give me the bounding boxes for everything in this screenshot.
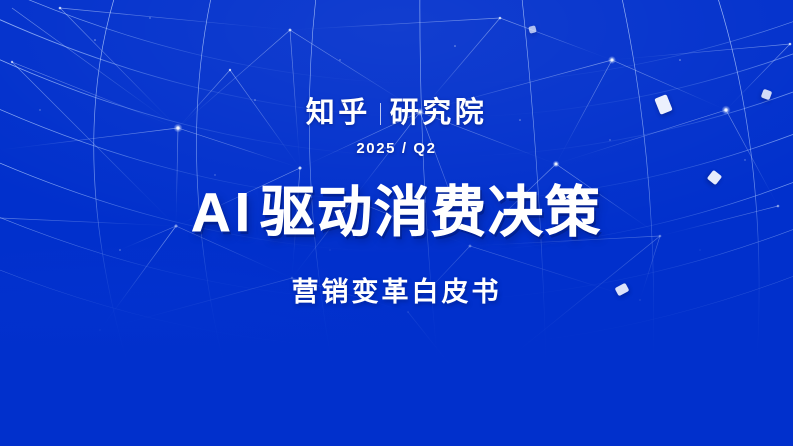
headline-lead: AI — [191, 181, 260, 243]
brand-lockup: 知乎 研究院 — [0, 99, 793, 128]
report-quarter: 2025 / Q2 — [0, 140, 793, 157]
slide-subtitle: 营销变革白皮书 — [0, 270, 793, 309]
slide-content: 知乎 研究院 2025 / Q2 AI驱动消费决策 营销变革白皮书 — [0, 0, 793, 446]
headline-rest: 驱动消费决策 — [260, 181, 602, 243]
brand-name-primary: 知乎 — [306, 99, 371, 128]
slide-headline: AI驱动消费决策 — [0, 183, 793, 241]
brand-divider — [380, 103, 381, 125]
slide-canvas: 知乎 研究院 2025 / Q2 AI驱动消费决策 营销变革白皮书 — [0, 0, 793, 446]
brand-name-secondary: 研究院 — [390, 99, 488, 128]
